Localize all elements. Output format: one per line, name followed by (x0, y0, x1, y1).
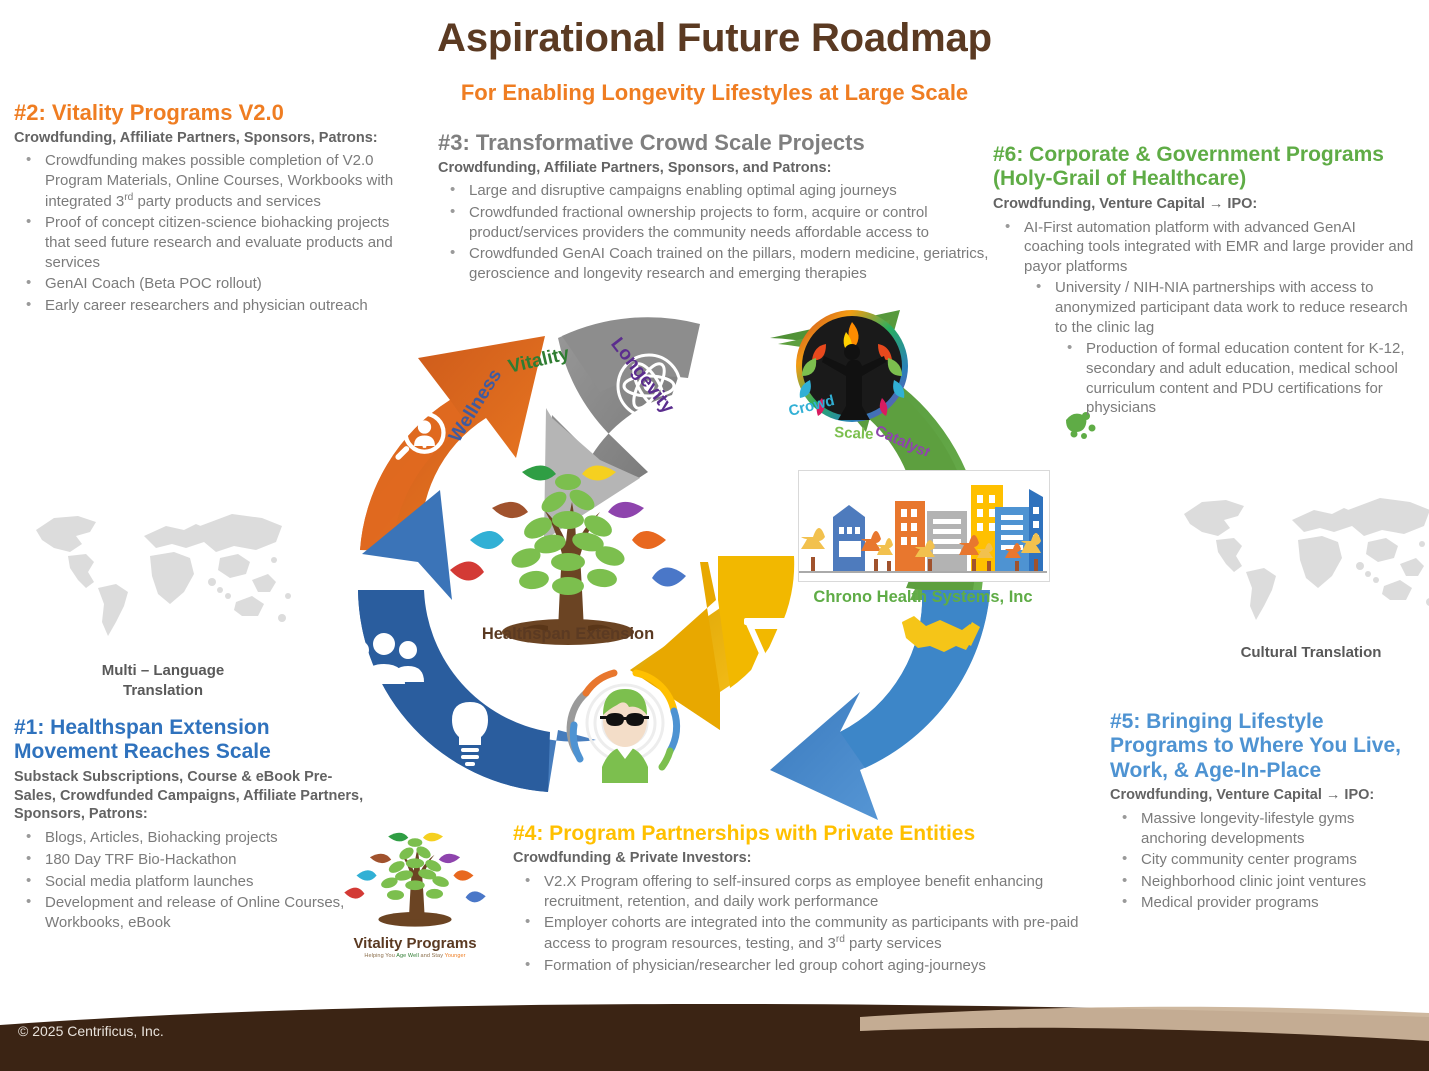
svg-text:Scale: Scale (834, 424, 874, 443)
section-6-subtitle: Crowdfunding, Venture Capital → IPO: (993, 195, 1417, 214)
list-item: Neighborhood clinic joint ventures (1110, 872, 1422, 892)
list-item: AI-First automation platform with advanc… (993, 218, 1417, 277)
section-4-subtitle: Crowdfunding & Private Investors: (513, 849, 1093, 868)
city-illustration-frame (798, 470, 1050, 582)
list-item: 180 Day TRF Bio-Hackathon (14, 850, 366, 870)
tagline-part-3: and Stay (421, 953, 444, 959)
section-5-subtitle: Crowdfunding, Venture Capital → IPO: (1110, 786, 1422, 805)
section-6-title: #6: Corporate & Government Programs (Hol… (993, 143, 1417, 192)
tagline-part-2: Age Well (396, 953, 419, 959)
arrow-blue-light (770, 590, 990, 820)
chrono-health-label: Chrono Health Systems, Inc (798, 588, 1048, 607)
section-2-subtitle: Crowdfunding, Affiliate Partners, Sponso… (14, 129, 396, 148)
vitality-tree-icon (330, 806, 500, 934)
section-5-bullets: Massive longevity-lifestyle gyms anchori… (1110, 809, 1422, 913)
footer-band (0, 1001, 1429, 1071)
list-item: Production of formal education content f… (993, 339, 1417, 418)
section-5: #5: Bringing Lifestyle Programs to Where… (1110, 710, 1422, 915)
world-map-left: Multi – Language Translation (24, 496, 302, 700)
vitality-logo-tagline: Helping You Age Well and Stay Younger (330, 953, 500, 959)
city-illustration (799, 471, 1047, 579)
tagline-part-4: Younger (445, 953, 466, 959)
world-map-icon (24, 496, 302, 646)
section-4: #4: Program Partnerships with Private En… (513, 822, 1093, 977)
list-item: Massive longevity-lifestyle gyms anchori… (1110, 809, 1422, 848)
healthspan-tree-illustration (430, 410, 706, 660)
tagline-part-1: Helping You (364, 953, 394, 959)
world-map-icon (1172, 480, 1429, 630)
section-6: #6: Corporate & Government Programs (Hol… (993, 143, 1417, 420)
list-item: University / NIH-NIA partnerships with a… (993, 278, 1417, 337)
map-left-label: Multi – Language Translation (24, 661, 302, 700)
section-5-title: #5: Bringing Lifestyle Programs to Where… (1110, 710, 1422, 783)
section-1-title: #1: Healthspan Extension Movement Reache… (14, 716, 366, 765)
map-left-label-line2: Translation (24, 681, 302, 701)
section-4-bullets: V2.X Program offering to self-insured co… (513, 872, 1093, 975)
list-item: Social media platform launches (14, 872, 366, 892)
section-1-subtitle: Substack Subscriptions, Course & eBook P… (14, 768, 366, 825)
list-item: Crowdfunded fractional ownership project… (438, 203, 994, 242)
tree-caption: Healthspan Extension (458, 625, 678, 644)
list-item: Large and disruptive campaigns enabling … (438, 181, 994, 201)
world-map-right: Cultural Translation (1172, 480, 1429, 663)
section-3: #3: Transformative Crowd Scale Projects … (438, 130, 994, 286)
section-2-title: #2: Vitality Programs V2.0 (14, 100, 396, 126)
coach-person-illustration (550, 655, 700, 795)
vitality-programs-logo: Vitality Programs Helping You Age Well a… (330, 806, 500, 966)
list-item: Employer cohorts are integrated into the… (513, 913, 1093, 953)
list-item: Development and release of Online Course… (14, 893, 366, 932)
target-icon (988, 632, 1060, 684)
section-3-bullets: Large and disruptive campaigns enabling … (438, 181, 994, 283)
section-3-subtitle: Crowdfunding, Affiliate Partners, Sponso… (438, 159, 994, 178)
section-6-bullets: AI-First automation platform with advanc… (993, 218, 1417, 418)
section-3-title: #3: Transformative Crowd Scale Projects (438, 130, 994, 156)
page-title: Aspirational Future Roadmap (0, 16, 1429, 61)
section-2: #2: Vitality Programs V2.0 Crowdfunding,… (14, 100, 396, 317)
crowd-scale-catalyst-logo: Crowd Scale Catalyst (786, 306, 936, 456)
map-left-label-line1: Multi – Language (24, 661, 302, 681)
section-4-title: #4: Program Partnerships with Private En… (513, 822, 1093, 846)
section-1: #1: Healthspan Extension Movement Reache… (14, 716, 366, 934)
section-2-bullets: Crowdfunding makes possible completion o… (14, 151, 396, 315)
list-item: Crowdfunded GenAI Coach trained on the p… (438, 244, 994, 283)
list-item: Blogs, Articles, Biohacking projects (14, 828, 366, 848)
list-item: Proof of concept citizen-science biohack… (14, 213, 396, 272)
list-item: Formation of physician/researcher led gr… (513, 956, 1093, 976)
slide-canvas: Aspirational Future Roadmap For Enabling… (0, 0, 1429, 1071)
vitality-logo-name: Vitality Programs (330, 935, 500, 952)
list-item: Crowdfunding makes possible completion o… (14, 151, 396, 211)
list-item: V2.X Program offering to self-insured co… (513, 872, 1093, 911)
list-item: Early career researchers and physician o… (14, 296, 396, 316)
list-item: City community center programs (1110, 850, 1422, 870)
list-item: Medical provider programs (1110, 893, 1422, 913)
section-1-bullets: Blogs, Articles, Biohacking projects 180… (14, 828, 366, 932)
list-item: GenAI Coach (Beta POC rollout) (14, 274, 396, 294)
copyright-text: © 2025 Centrificus, Inc. (18, 1023, 164, 1039)
map-right-label: Cultural Translation (1172, 643, 1429, 663)
svg-text:Catalyst: Catalyst (872, 422, 932, 456)
